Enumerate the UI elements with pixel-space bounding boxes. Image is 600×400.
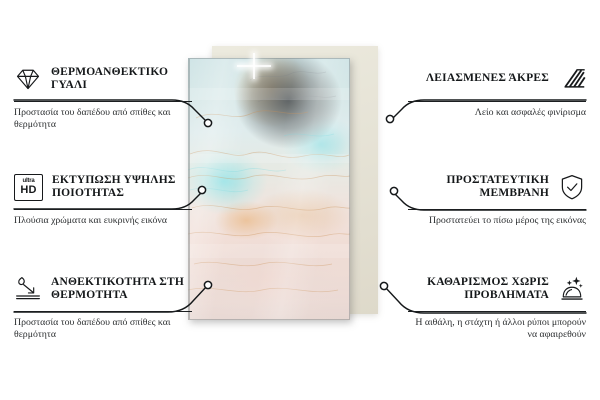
feature-title: ΚΑΘΑΡΙΣΜΟΣ ΧΩΡΙΣ ΠΡΟΒΛΗΜΑΤΑ	[408, 276, 549, 303]
feature-title: ΘΕΡΜΟΑΝΘΕΚΤΙΚΟ ΓΥΑΛΙ	[51, 66, 192, 93]
feature-header: ΘΕΡΜΟΑΝΘΕΚΤΙΚΟ ΓΥΑΛΙ	[14, 62, 192, 96]
glass-edge	[188, 58, 350, 320]
feature-heat-resistance: ΑΝΘΕΚΤΙΚΟΤΗΤΑ ΣΤΗ ΘΕΡΜΟΤΗΤΑ Προστασία το…	[14, 272, 192, 342]
feature-body: Η αιθάλη, η στάχτη ή άλλοι ρύποι μπορούν…	[408, 317, 586, 342]
feature-body: Πλούσια χρώματα και ευκρινής εικόνα	[14, 215, 192, 227]
feature-divider	[408, 209, 586, 210]
feature-title: ΛΕΙΑΣΜΕΝΕΣ ΆΚΡΕΣ	[426, 72, 549, 86]
connector-dot-right-1	[386, 115, 393, 122]
feature-header: ΚΑΘΑΡΙΣΜΟΣ ΧΩΡΙΣ ΠΡΟΒΛΗΜΑΤΑ	[408, 272, 586, 306]
feature-body: Προστασία του δαπέδου από σπίθες και θερ…	[14, 317, 192, 342]
feature-body: Προστατεύει το πίσω μέρος της εικόνας	[408, 215, 586, 227]
feature-header: ΑΝΘΕΚΤΙΚΟΤΗΤΑ ΣΤΗ ΘΕΡΜΟΤΗΤΑ	[14, 272, 192, 306]
connector-dot-right-3	[380, 282, 387, 289]
feature-divider	[14, 311, 192, 312]
infographic-stage: ΘΕΡΜΟΑΝΘΕΚΤΙΚΟ ΓΥΑΛΙ Προστασία του δαπέδ…	[0, 0, 600, 400]
glass-panel-product	[188, 58, 350, 320]
diamond-icon	[14, 65, 42, 93]
shield-check-icon	[558, 173, 586, 201]
ultra-hd-large-label: HD	[20, 185, 36, 196]
feature-protective-membrane: ΠΡΟΣΤΑΤΕΥΤΙΚΗ ΜΕΜΒΡΑΝΗ Προστατεύει το πί…	[408, 170, 586, 227]
sparkle-clean-icon	[558, 275, 586, 303]
connector-dot-right-2	[390, 187, 397, 194]
polished-edges-icon	[558, 65, 586, 93]
feature-header: ΠΡΟΣΤΑΤΕΥΤΙΚΗ ΜΕΜΒΡΑΝΗ	[408, 170, 586, 204]
feature-polished-edges: ΛΕΙΑΣΜΕΝΕΣ ΆΚΡΕΣ Λείο και ασφαλές φινίρι…	[408, 62, 586, 119]
feature-body: Λείο και ασφαλές φινίρισμα	[408, 107, 586, 119]
feature-title: ΑΝΘΕΚΤΙΚΟΤΗΤΑ ΣΤΗ ΘΕΡΜΟΤΗΤΑ	[51, 276, 192, 303]
feature-header: ΛΕΙΑΣΜΕΝΕΣ ΆΚΡΕΣ	[408, 62, 586, 96]
ultra-hd-icon: ultra HD	[14, 174, 43, 201]
feature-divider	[408, 101, 586, 102]
feature-body: Προστασία του δαπέδου από σπίθες και θερ…	[14, 107, 192, 132]
feature-title: ΕΚΤΥΠΩΣΗ ΥΨΗΛΗΣ ΠΟΙΟΤΗΤΑΣ	[52, 174, 192, 201]
feature-easy-cleaning: ΚΑΘΑΡΙΣΜΟΣ ΧΩΡΙΣ ΠΡΟΒΛΗΜΑΤΑ Η αιθάλη, η …	[408, 272, 586, 342]
feature-high-quality-print: ultra HD ΕΚΤΥΠΩΣΗ ΥΨΗΛΗΣ ΠΟΙΟΤΗΤΑΣ Πλούσ…	[14, 170, 192, 227]
product-scene	[182, 46, 378, 321]
feature-title: ΠΡΟΣΤΑΤΕΥΤΙΚΗ ΜΕΜΒΡΑΝΗ	[408, 174, 549, 201]
heat-resistance-icon	[14, 275, 42, 303]
feature-divider	[14, 209, 192, 210]
feature-heat-resistant-glass: ΘΕΡΜΟΑΝΘΕΚΤΙΚΟ ΓΥΑΛΙ Προστασία του δαπέδ…	[14, 62, 192, 132]
feature-divider	[14, 101, 192, 102]
feature-header: ultra HD ΕΚΤΥΠΩΣΗ ΥΨΗΛΗΣ ΠΟΙΟΤΗΤΑΣ	[14, 170, 192, 204]
feature-divider	[408, 311, 586, 312]
